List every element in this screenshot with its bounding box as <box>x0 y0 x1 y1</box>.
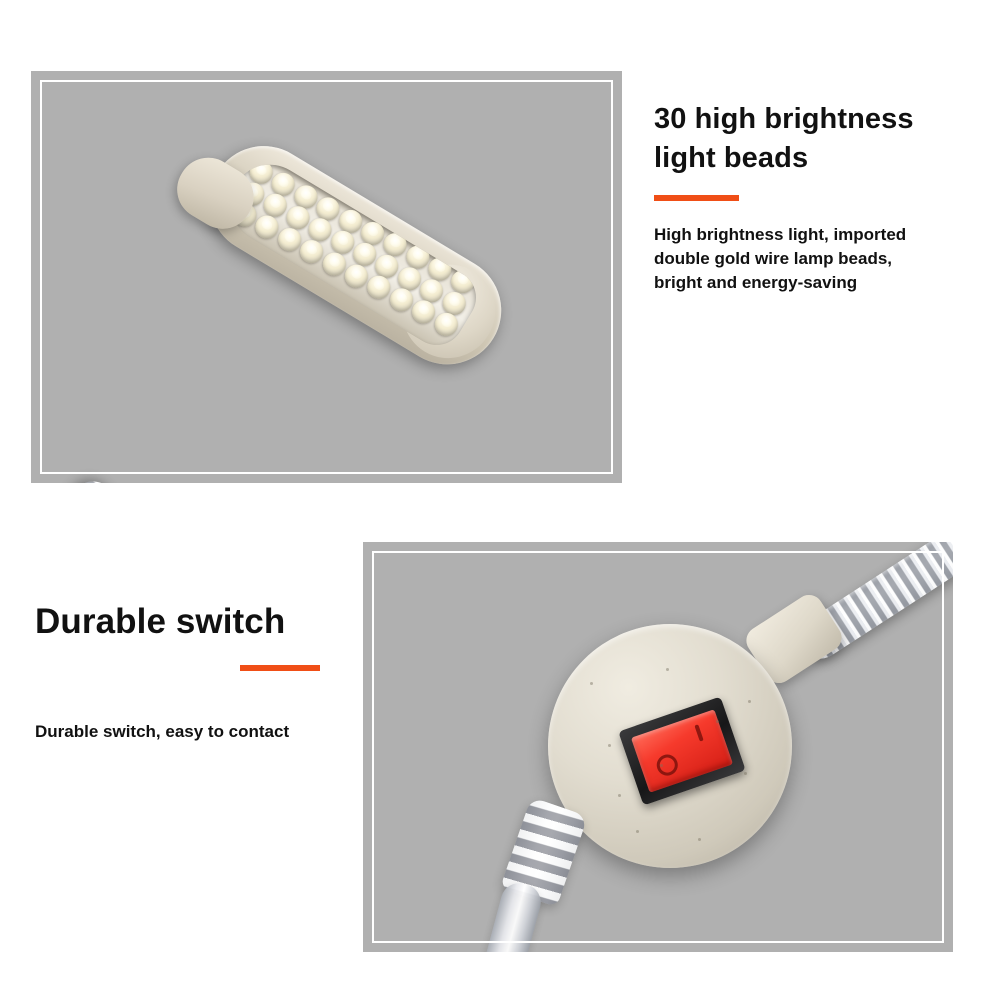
led-lens-well <box>216 150 486 355</box>
body-line-1: High brightness light, imported <box>654 225 906 244</box>
rocker-switch-bezel <box>618 697 746 806</box>
feature-headline: Durable switch <box>35 600 345 644</box>
housing-texture-speck <box>744 772 747 775</box>
housing-texture-speck <box>716 720 719 723</box>
feature-photo-led-beads <box>31 71 622 483</box>
power-cord <box>471 879 545 952</box>
feature-text-led-beads: 30 high brightness light beads High brig… <box>654 100 974 295</box>
feature-body: High brightness light, imported double g… <box>654 223 974 295</box>
housing-texture-speck <box>590 682 593 685</box>
body-line-2: double gold wire lamp beads, <box>654 249 892 268</box>
gooseneck-tube <box>31 473 123 483</box>
lamp-housing <box>190 126 522 384</box>
led-lamp-head-illustration <box>91 126 528 483</box>
housing-texture-speck <box>608 744 611 747</box>
page-canvas: 30 high brightness light beads High brig… <box>0 0 1000 1000</box>
switch-housing <box>548 624 792 868</box>
housing-texture-speck <box>698 838 701 841</box>
feature-body: Durable switch, easy to contact <box>35 720 345 744</box>
feature-photo-durable-switch <box>363 542 953 952</box>
feature-text-durable-switch: Durable switch Durable switch, easy to c… <box>35 600 345 744</box>
feature-headline: 30 high brightness light beads <box>654 100 974 178</box>
power-off-circle-icon <box>654 752 681 779</box>
headline-line-2: light beads <box>654 142 808 174</box>
body-line-3: bright and energy-saving <box>654 273 857 292</box>
housing-texture-speck <box>660 764 663 767</box>
housing-texture-speck <box>618 794 621 797</box>
led-bead-grid <box>222 157 482 350</box>
accent-bar <box>654 195 739 201</box>
accent-bar <box>240 665 320 671</box>
headline-line-1: 30 high brightness <box>654 103 914 135</box>
power-on-bar-icon <box>694 724 703 741</box>
housing-texture-speck <box>748 700 751 703</box>
gooseneck-coil <box>31 473 123 483</box>
housing-texture-speck <box>636 830 639 833</box>
housing-texture-speck <box>666 668 669 671</box>
